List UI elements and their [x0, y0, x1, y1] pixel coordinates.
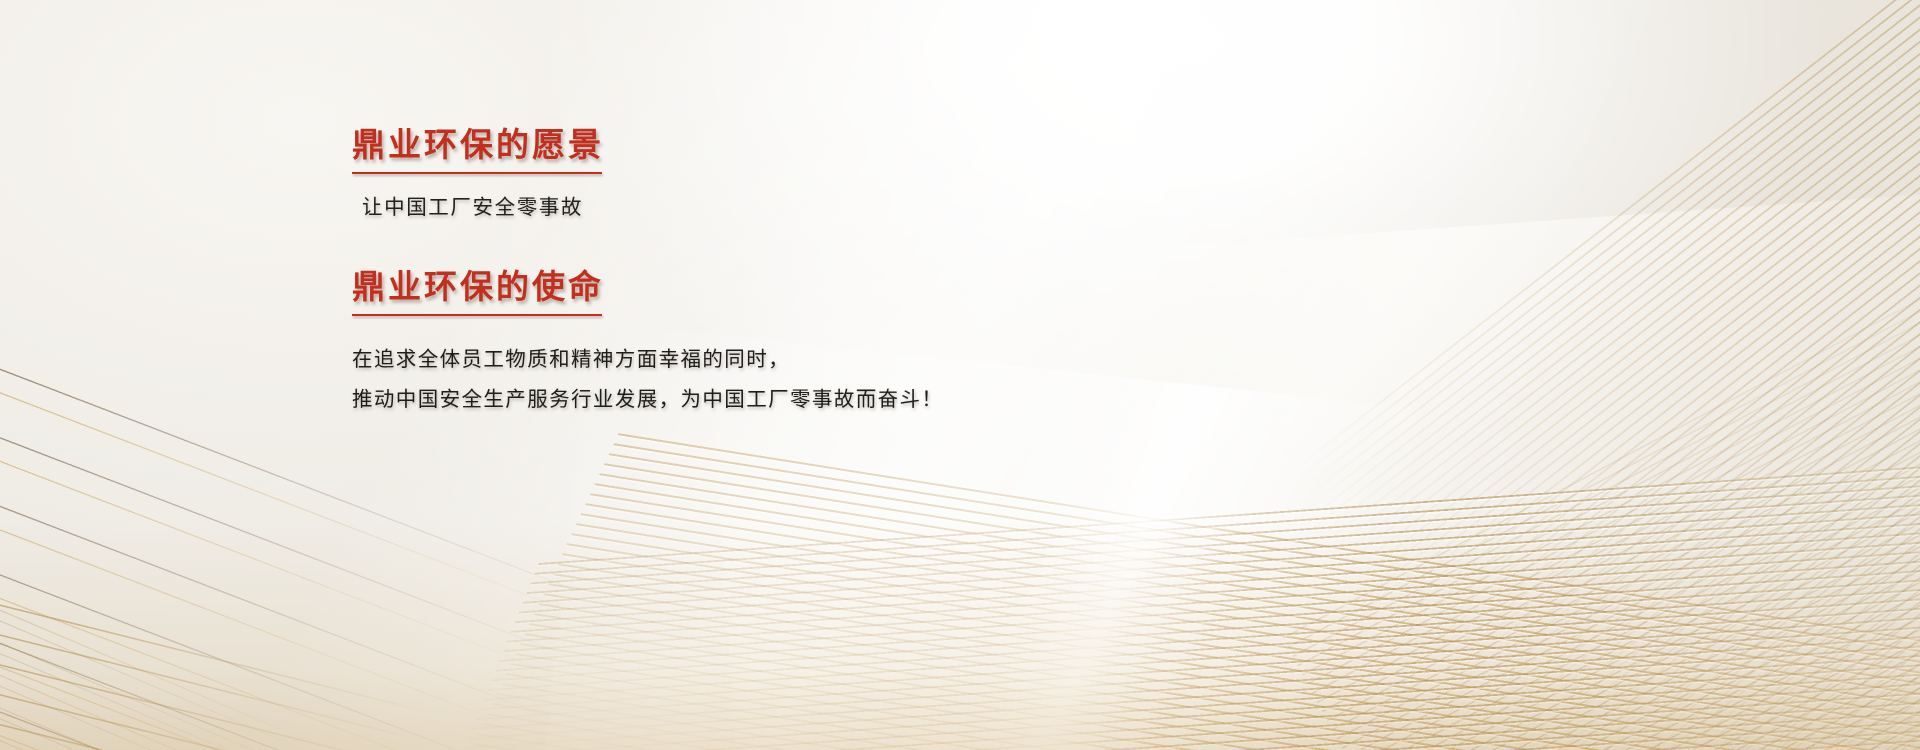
section-spacer	[352, 220, 1112, 266]
vision-subtitle: 让中国工厂安全零事故	[362, 190, 1112, 220]
vision-mission-banner: 鼎业环保的愿景 让中国工厂安全零事故 鼎业环保的使命 在追求全体员工物质和精神方…	[0, 0, 1920, 750]
mission-body-line: 在追求全体员工物质和精神方面幸福的同时，	[352, 340, 1112, 380]
mission-body: 在追求全体员工物质和精神方面幸福的同时， 推动中国安全生产服务行业发展，为中国工…	[352, 340, 1112, 420]
mission-body-line: 推动中国安全生产服务行业发展，为中国工厂零事故而奋斗！	[352, 380, 1112, 420]
vision-section: 鼎业环保的愿景 让中国工厂安全零事故	[352, 124, 1112, 220]
mission-section: 鼎业环保的使命 在追求全体员工物质和精神方面幸福的同时， 推动中国安全生产服务行…	[352, 266, 1112, 420]
vision-heading: 鼎业环保的愿景	[352, 124, 604, 174]
text-content-block: 鼎业环保的愿景 让中国工厂安全零事故 鼎业环保的使命 在追求全体员工物质和精神方…	[352, 124, 1112, 420]
mission-heading: 鼎业环保的使命	[352, 266, 604, 316]
